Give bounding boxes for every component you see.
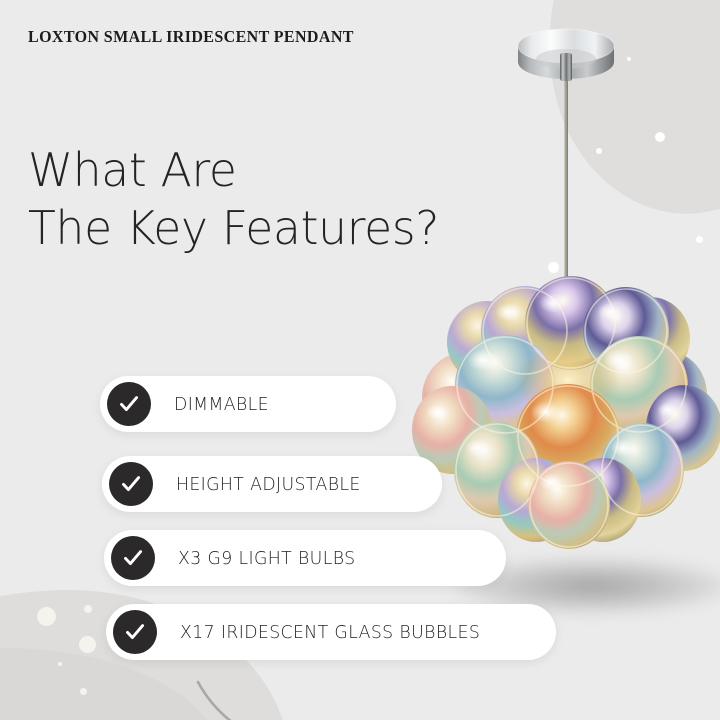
decorative-blob-top-right — [517, 0, 720, 238]
decorative-dot — [596, 148, 602, 154]
decorative-dot — [655, 132, 665, 142]
decorative-dot — [58, 662, 62, 666]
decorative-dot — [627, 57, 631, 61]
decorative-dot — [548, 262, 559, 273]
decorative-dot — [79, 636, 96, 653]
feature-label: X17 IRIDESCENT GLASS BUBBLES — [180, 622, 480, 643]
check-icon — [107, 382, 151, 426]
check-icon — [113, 610, 157, 654]
glass-bubble-cluster — [412, 276, 720, 549]
feature-pill-glass-bubbles[interactable]: X17 IRIDESCENT GLASS BUBBLES — [106, 604, 556, 660]
feature-pill-height-adjustable[interactable]: HEIGHT ADJUSTABLE — [102, 456, 442, 512]
feature-pill-light-bulbs[interactable]: X3 G9 LIGHT BULBS — [104, 530, 506, 586]
feature-pill-dimmable[interactable]: DIMMABLE — [100, 376, 396, 432]
feature-label: X3 G9 LIGHT BULBS — [178, 548, 355, 569]
feature-label: DIMMABLE — [174, 394, 269, 415]
decorative-arc-icon — [150, 650, 270, 720]
check-icon — [109, 462, 153, 506]
decorative-dot — [80, 688, 87, 695]
decorative-dot — [581, 286, 588, 293]
decorative-dot — [696, 236, 703, 243]
product-title-label: LOXTON SMALL IRIDESCENT PENDANT — [28, 27, 354, 47]
poster-canvas: LOXTON SMALL IRIDESCENT PENDANT What Are… — [0, 0, 720, 720]
decorative-dot — [37, 607, 56, 626]
page-title: What Are The Key Features? — [28, 141, 439, 257]
feature-label: HEIGHT ADJUSTABLE — [176, 474, 361, 495]
check-icon — [111, 536, 155, 580]
decorative-dot — [84, 605, 92, 613]
